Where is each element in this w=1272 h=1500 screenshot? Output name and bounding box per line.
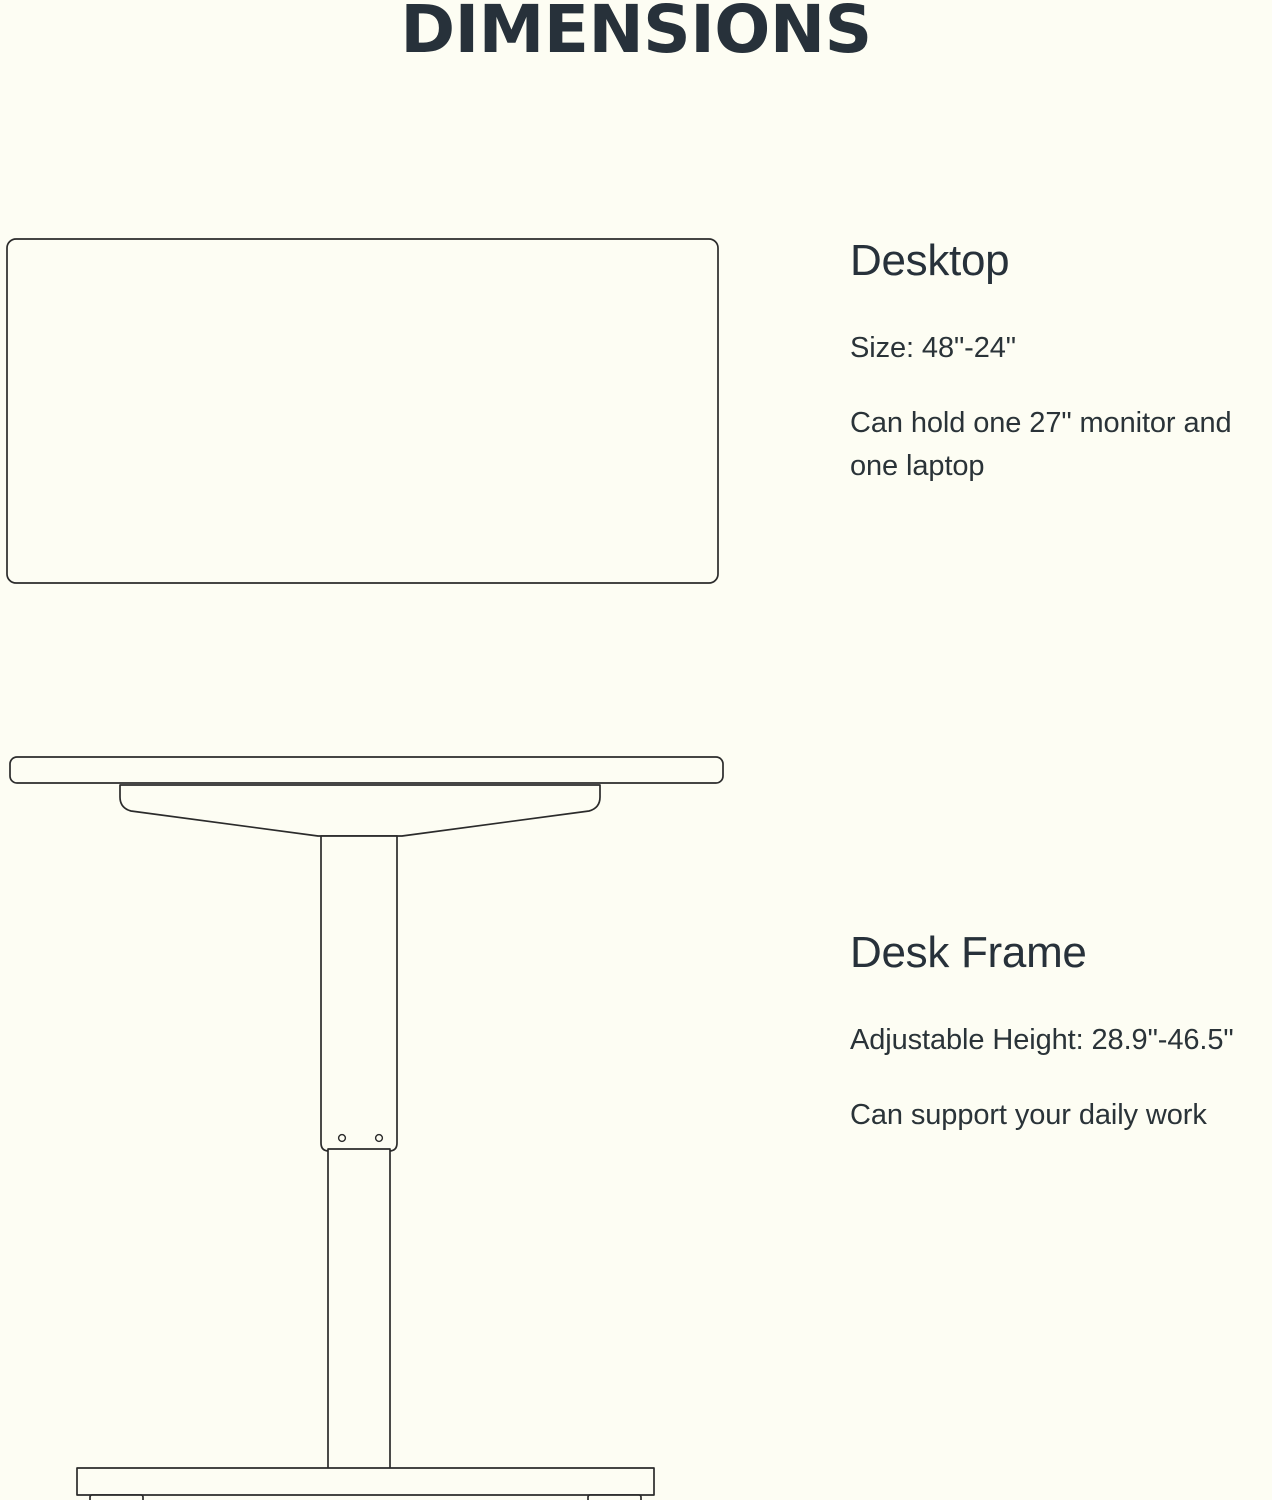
desktop-top-view-outline [7, 239, 718, 583]
desk-frame-capacity-label: Can support your daily work [850, 1094, 1272, 1137]
diagram-layer [0, 0, 780, 1500]
right-foot [588, 1495, 641, 1500]
desktop-size-label: Size: 48"-24" [850, 327, 1272, 370]
mounting-bracket [120, 785, 600, 836]
technical-drawings-svg [0, 0, 780, 1500]
desk-frame-side-view-group [10, 757, 723, 1500]
left-foot [90, 1495, 143, 1500]
dimensions-infographic: DIMENSIONS [0, 0, 1272, 1500]
column-screw-left [339, 1135, 346, 1142]
desk-frame-height-label: Adjustable Height: 28.9"-46.5" [850, 1019, 1272, 1062]
desktop-capacity-label: Can hold one 27" monitor and one laptop [850, 402, 1272, 488]
tabletop-slab [10, 757, 723, 783]
lower-column [328, 1149, 390, 1469]
column-screw-right [376, 1135, 383, 1142]
upper-column [321, 836, 397, 1151]
base-bar [77, 1468, 654, 1495]
desktop-heading: Desktop [850, 236, 1272, 285]
desk-frame-heading: Desk Frame [850, 928, 1272, 977]
desktop-spec-block: Desktop Size: 48"-24" Can hold one 27" m… [850, 236, 1272, 488]
desktop-top-view-group [7, 239, 718, 583]
desk-frame-spec-block: Desk Frame Adjustable Height: 28.9"-46.5… [850, 928, 1272, 1137]
